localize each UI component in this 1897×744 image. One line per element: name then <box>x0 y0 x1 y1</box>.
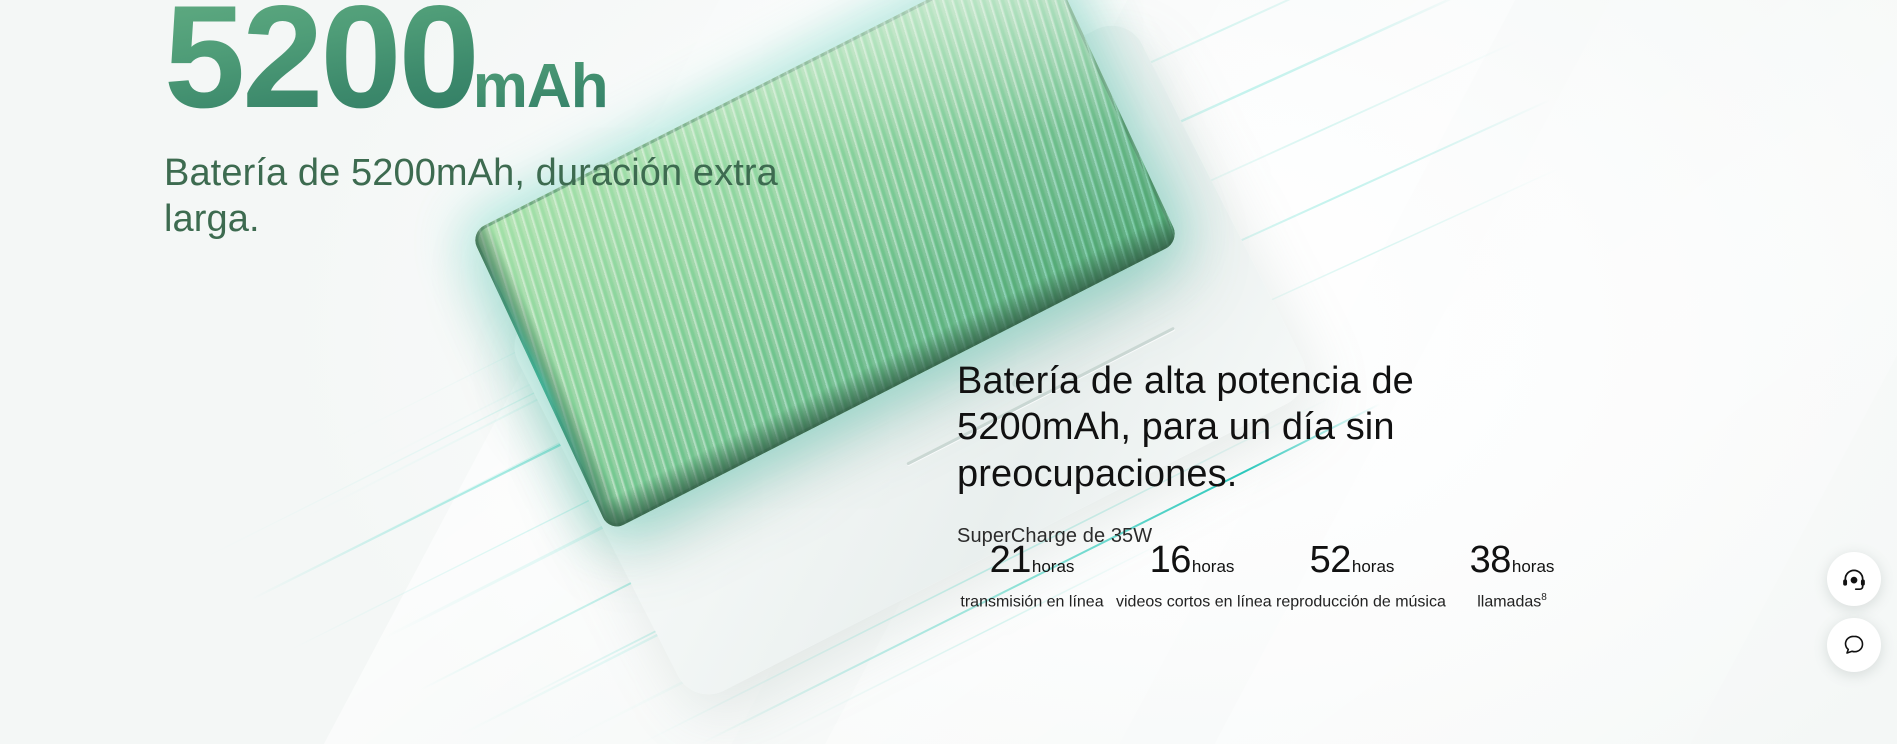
stat-description-text: transmisión en línea <box>960 593 1103 610</box>
headset-support-icon <box>1841 566 1867 592</box>
stat-description: llamadas8 <box>1436 592 1588 612</box>
capacity-number: 5200 <box>164 0 477 130</box>
capacity-unit: mAh <box>473 51 608 122</box>
stat-value-row: 52 horas <box>1276 541 1428 579</box>
stat-footnote: 8 <box>1541 592 1547 603</box>
chat-icon <box>1842 633 1866 657</box>
battery-life-stats: 21 horas transmisión en línea 16 horas v… <box>952 541 1592 612</box>
chat-button[interactable] <box>1827 618 1881 672</box>
stat-value: 52 <box>1310 541 1351 579</box>
hero-headline-block: 5200mAh Batería de 5200mAh, duración ext… <box>164 0 784 243</box>
stat-description-text: reproducción de música <box>1276 593 1446 610</box>
stat-description: reproducción de música <box>1276 592 1428 612</box>
stat-value-row: 38 horas <box>1436 541 1588 579</box>
stat-value: 38 <box>1470 541 1511 579</box>
stat-value-row: 16 horas <box>1116 541 1268 579</box>
capacity-heading: 5200mAh <box>164 0 784 130</box>
hero-banner: 5200mAh Batería de 5200mAh, duración ext… <box>0 0 1897 744</box>
stat-item: 52 horas reproducción de música <box>1272 541 1432 612</box>
stat-description: videos cortos en línea <box>1116 592 1268 612</box>
stat-unit: horas <box>1192 558 1235 575</box>
stat-description: transmisión en línea <box>956 592 1108 612</box>
stat-value-row: 21 horas <box>956 541 1108 579</box>
feature-copy-block: Batería de alta potencia de 5200mAh, par… <box>957 358 1477 548</box>
stat-description-text: llamadas <box>1477 593 1541 610</box>
stat-unit: horas <box>1032 558 1075 575</box>
feature-heading: Batería de alta potencia de 5200mAh, par… <box>957 358 1477 497</box>
stat-unit: horas <box>1512 558 1555 575</box>
stat-item: 21 horas transmisión en línea <box>952 541 1112 612</box>
stat-description-text: videos cortos en línea <box>1116 593 1272 610</box>
stat-value: 16 <box>1150 541 1191 579</box>
hero-subtitle: Batería de 5200mAh, duración extra larga… <box>164 150 784 243</box>
support-headset-button[interactable] <box>1827 552 1881 606</box>
stat-unit: horas <box>1352 558 1395 575</box>
stat-value: 21 <box>990 541 1031 579</box>
stat-item: 16 horas videos cortos en línea <box>1112 541 1272 612</box>
floating-action-buttons <box>1827 552 1881 672</box>
stat-item: 38 horas llamadas8 <box>1432 541 1592 612</box>
